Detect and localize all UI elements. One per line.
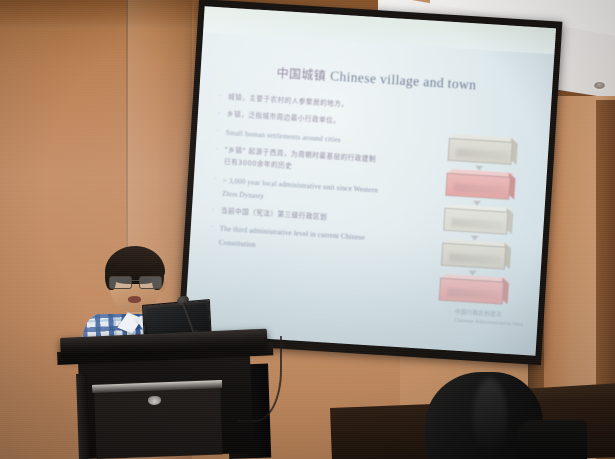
lens-right <box>139 276 162 289</box>
mouth <box>128 296 141 303</box>
stage-foreground <box>0 0 615 459</box>
auditorium-chair <box>425 372 575 459</box>
power-cable <box>238 336 282 422</box>
glasses-bridge <box>131 280 140 281</box>
lecture-hall-photo: 中国城镇Chinese village and town - 城镇，主要于农村的… <box>0 0 615 459</box>
lens-left <box>109 276 132 289</box>
chair-highlight <box>473 378 507 456</box>
chair-armrest <box>517 420 587 459</box>
eyeglasses-icon <box>108 276 163 288</box>
